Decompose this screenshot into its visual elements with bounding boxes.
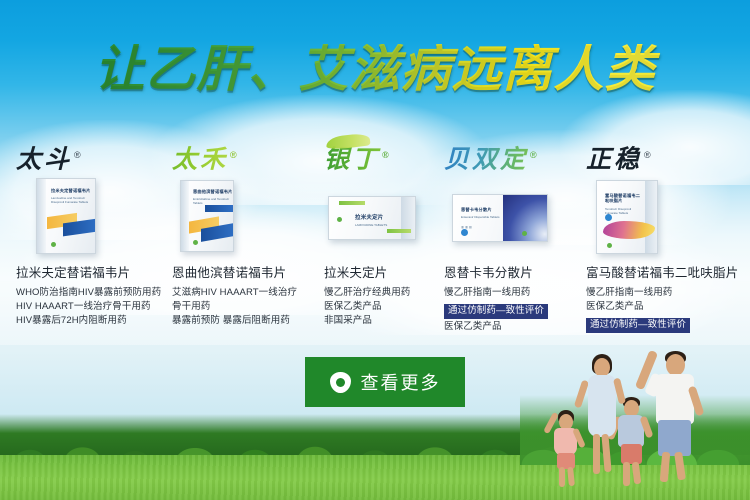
- product-feature-line: 慢乙肝治疗经典用药: [324, 286, 444, 300]
- package-box: 恩替卡韦分散片 Entecavir Dispersible Tablets ||…: [452, 194, 548, 242]
- product-feature-line: 暴露前预防 暴露后阻断用药: [172, 314, 324, 328]
- product-card[interactable]: 太禾® 恩曲他滨替诺福韦片 Emtricitabine and Tenofovi…: [172, 138, 324, 328]
- page-title: 让乙肝、艾滋病远离人类: [0, 44, 750, 94]
- product-feature-line: 骨干用药: [172, 300, 324, 314]
- registered-mark-icon: ®: [74, 150, 81, 160]
- product-brand-name: 正稳: [586, 145, 642, 173]
- man-figure: [636, 342, 710, 482]
- product-card[interactable]: 银丁® 拉米夫定片 LAMIVUDINE TABLETS 拉米夫定片 慢乙肝治疗…: [324, 138, 444, 328]
- product-card[interactable]: 太斗® 拉米夫定替诺福韦片 Lamivudine and Tenofovir D…: [0, 138, 172, 328]
- product-name: 富马酸替诺福韦二吡呋脂片: [586, 262, 750, 281]
- product-feature-line: 非国采产品: [324, 314, 444, 328]
- product-feature-line: 慢乙肝指南一线用药: [586, 286, 750, 300]
- package-title: 富马酸替诺福韦二吡呋脂片: [605, 193, 643, 203]
- product-feature-line: 慢乙肝指南一线用药: [444, 286, 586, 300]
- package-subtitle: Entecavir Dispersible Tablets: [461, 215, 499, 219]
- package-subtitle: Emtricitabine and Tenofovir Tablets: [193, 197, 231, 205]
- product-name: 恩替卡韦分散片: [444, 262, 586, 281]
- product-brand-name: 太禾: [172, 145, 228, 173]
- product-name: 拉米夫定片: [324, 262, 444, 281]
- product-brand-name: 太斗: [16, 145, 72, 173]
- product-feature-line: HIV暴露后72H内阻断用药: [16, 314, 172, 328]
- product-features: WHO防治指南HIV暴露前预防用药 HIV HAAART一线治疗骨干用药 HIV…: [16, 286, 172, 328]
- view-more-button[interactable]: 查看更多: [305, 357, 465, 407]
- package-subtitle: LAMIVUDINE TABLETS: [355, 223, 387, 227]
- registered-mark-icon: ®: [230, 150, 237, 160]
- registered-mark-icon: ®: [530, 150, 537, 160]
- product-feature-line: 医保乙类产品: [586, 300, 750, 314]
- package-title: 恩曲他滨替诺福韦片: [193, 189, 233, 195]
- package-title: 拉米夫定片: [355, 213, 384, 221]
- product-list: 太斗® 拉米夫定替诺福韦片 Lamivudine and Tenofovir D…: [0, 138, 750, 328]
- registered-mark-icon: ®: [644, 150, 651, 160]
- product-features: 慢乙肝治疗经典用药 医保乙类产品 非国采产品: [324, 286, 444, 328]
- product-image: 拉米夫定替诺福韦片 Lamivudine and Tenofovir Disop…: [16, 178, 172, 254]
- product-image: 拉米夫定片 LAMIVUDINE TABLETS: [324, 178, 444, 254]
- product-card[interactable]: 正稳® 富马酸替诺福韦二吡呋脂片 Tenofovir Disoproxil Fu…: [586, 138, 750, 328]
- package-title: 恩替卡韦分散片: [461, 207, 492, 213]
- product-image: 恩替卡韦分散片 Entecavir Dispersible Tablets ||…: [444, 178, 586, 254]
- product-feature-line: HIV HAAART一线治疗骨干用药: [16, 300, 172, 314]
- woman-figure: [574, 348, 630, 478]
- package-box: 拉米夫定替诺福韦片 Lamivudine and Tenofovir Disop…: [36, 178, 96, 254]
- product-brand-logo: 银丁®: [324, 138, 389, 172]
- package-title: 拉米夫定替诺福韦片: [51, 188, 91, 194]
- product-image: 富马酸替诺福韦二吡呋脂片 Tenofovir Disoproxil Fumara…: [586, 178, 750, 254]
- product-card[interactable]: 贝双定® 恩替卡韦分散片 Entecavir Dispersible Table…: [444, 138, 586, 328]
- product-image: 恩曲他滨替诺福韦片 Emtricitabine and Tenofovir Ta…: [172, 178, 324, 254]
- package-box: 拉米夫定片 LAMIVUDINE TABLETS: [328, 196, 416, 240]
- package-box: 恩曲他滨替诺福韦片 Emtricitabine and Tenofovir Ta…: [180, 180, 234, 252]
- product-brand-logo: 太斗®: [16, 138, 81, 172]
- package-subtitle: Lamivudine and Tenofovir Disoproxil Fuma…: [51, 196, 93, 204]
- family-photo: [540, 320, 750, 500]
- product-features: 艾滋病HIV HAAART一线治疗 骨干用药 暴露前预防 暴露后阻断用药: [172, 286, 324, 328]
- product-brand-name: 贝双定: [444, 145, 528, 173]
- product-brand-logo: 太禾®: [172, 138, 237, 172]
- promo-banner: 让乙肝、艾滋病远离人类 让乙肝、艾滋病远离人类 太斗® 拉米夫定替诺福韦片 La…: [0, 0, 750, 500]
- product-feature-line: 艾滋病HIV HAAART一线治疗: [172, 286, 324, 300]
- product-brand-logo: 贝双定®: [444, 138, 537, 172]
- registered-mark-icon: ®: [382, 150, 389, 160]
- product-name: 拉米夫定替诺福韦片: [16, 262, 172, 281]
- product-brand-logo: 正稳®: [586, 138, 651, 172]
- status-badge: 通过仿制药—致性评价: [444, 304, 548, 319]
- eye-icon: [330, 372, 351, 393]
- view-more-label: 查看更多: [361, 369, 441, 395]
- product-name: 恩曲他滨替诺福韦片: [172, 262, 324, 281]
- package-box: 富马酸替诺福韦二吡呋脂片 Tenofovir Disoproxil Fumara…: [596, 180, 658, 254]
- product-brand-name: 银丁: [324, 146, 380, 173]
- product-feature-line: 医保乙类产品: [324, 300, 444, 314]
- product-feature-line: WHO防治指南HIV暴露前预防用药: [16, 286, 172, 300]
